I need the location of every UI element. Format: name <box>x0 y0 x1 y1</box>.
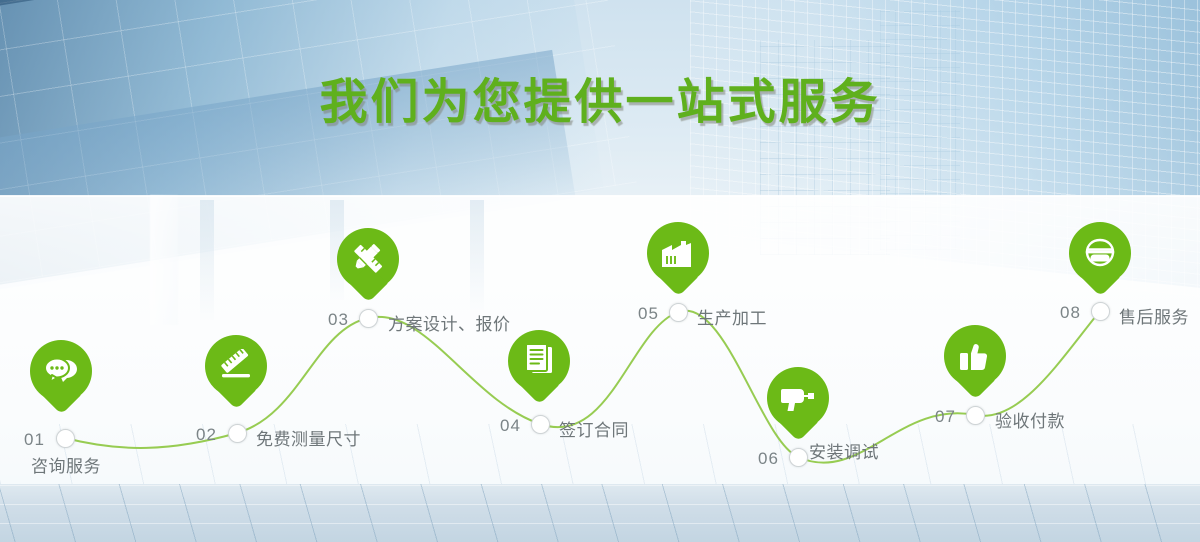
step-number-05: 05 <box>638 304 659 324</box>
pin-step-07[interactable] <box>944 325 1006 405</box>
step-number-06: 06 <box>758 449 779 469</box>
flow-curve <box>0 0 1200 542</box>
pin-step-04[interactable] <box>508 330 570 410</box>
pencil-ruler-icon <box>337 228 399 290</box>
service-process-banner: 我们为您提供一站式服务 01 咨询服务 <box>0 0 1200 542</box>
step-number-04: 04 <box>500 416 521 436</box>
headset-support-icon <box>1069 222 1131 284</box>
pin-step-05[interactable] <box>647 222 709 302</box>
step-number-07: 07 <box>935 407 956 427</box>
pin-step-01[interactable] <box>30 340 92 420</box>
node-step-08[interactable] <box>1091 302 1110 321</box>
node-step-06[interactable] <box>789 448 808 467</box>
process-flow: 01 咨询服务 <box>0 0 1200 542</box>
factory-icon <box>647 222 709 284</box>
step-label-01: 咨询服务 <box>31 452 101 477</box>
step-label-06: 安装调试 <box>809 438 879 463</box>
step-number-08: 08 <box>1060 303 1081 323</box>
step-label-08: 售后服务 <box>1119 303 1189 328</box>
ruler-icon <box>205 335 267 397</box>
chat-bubbles-icon <box>30 340 92 402</box>
step-number-03: 03 <box>328 310 349 330</box>
node-step-04[interactable] <box>531 415 550 434</box>
pin-step-02[interactable] <box>205 335 267 415</box>
node-step-02[interactable] <box>228 424 247 443</box>
step-label-07: 验收付款 <box>995 407 1065 432</box>
step-label-03: 方案设计、报价 <box>388 310 511 335</box>
thumbs-up-icon <box>944 325 1006 387</box>
pin-step-06[interactable] <box>767 367 829 447</box>
drill-icon <box>767 367 829 429</box>
step-number-01: 01 <box>24 430 45 450</box>
node-step-01[interactable] <box>56 429 75 448</box>
step-number-02: 02 <box>196 425 217 445</box>
pin-step-08[interactable] <box>1069 222 1131 302</box>
step-label-05: 生产加工 <box>697 304 767 329</box>
step-label-04: 签订合同 <box>559 416 629 441</box>
documents-icon <box>508 330 570 392</box>
pin-step-03[interactable] <box>337 228 399 308</box>
node-step-05[interactable] <box>669 303 688 322</box>
step-label-02: 免费测量尺寸 <box>256 425 361 450</box>
node-step-03[interactable] <box>359 309 378 328</box>
node-step-07[interactable] <box>966 406 985 425</box>
